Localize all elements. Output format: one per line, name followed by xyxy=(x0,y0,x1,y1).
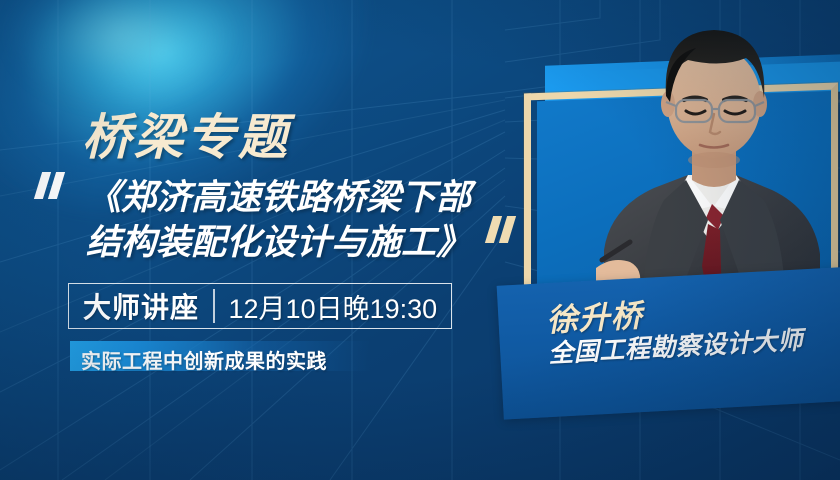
lecture-title: 《郑济高速铁路桥梁下部 结构装配化设计与施工》 xyxy=(86,176,506,266)
badge-date: 12月10日晚19:30 xyxy=(215,284,452,328)
speaker-photo xyxy=(596,10,828,310)
badge-label: 大师讲座 xyxy=(69,284,213,328)
tagline: 实际工程中创新成果的实践 xyxy=(81,345,327,374)
page-title: 桥梁专题 xyxy=(82,98,290,169)
lecture-badge: 大师讲座 12月10日晚19:30 xyxy=(68,283,452,329)
speaker-name-plate: 徐升桥 全国工程勘察设计大师 xyxy=(497,266,840,419)
lecture-poster: 徐升桥 全国工程勘察设计大师 桥梁专题 《郑济高速铁路桥梁下部 结构装配化设计与… xyxy=(0,0,840,480)
quote-open-icon xyxy=(38,172,61,199)
lecture-title-line-1: 《郑济高速铁路桥梁下部 xyxy=(86,176,506,221)
lecture-title-line-2: 结构装配化设计与施工》 xyxy=(86,221,506,266)
